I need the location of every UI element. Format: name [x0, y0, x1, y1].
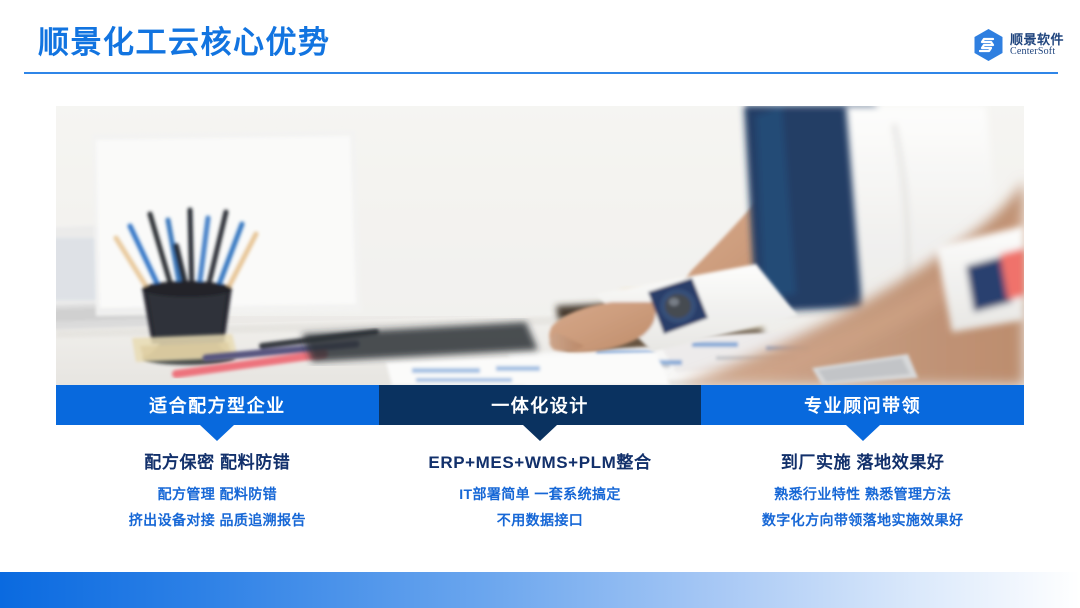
logo-company-cn: 顺景软件: [1010, 33, 1064, 46]
feature-line: IT部署简单 一套系统搞定: [459, 484, 621, 504]
banner-notch-icon: [846, 425, 880, 441]
feature-line: 挤出设备对接 品质追溯报告: [129, 510, 306, 530]
slide-root: 顺景化工云核心优势 顺景软件 CenterSoft: [0, 0, 1080, 608]
banner-label: 一体化设计: [491, 392, 589, 418]
feature-line: 不用数据接口: [497, 510, 583, 530]
bottom-gradient-bar: [0, 572, 1080, 608]
company-logo: 顺景软件 CenterSoft: [973, 28, 1064, 62]
logo-company-en: CenterSoft: [1010, 47, 1064, 57]
banner-strip: 适合配方型企业 一体化设计 专业顾问带领: [56, 385, 1024, 425]
logo-wordmark: 顺景软件 CenterSoft: [1010, 33, 1064, 57]
title-underline-rule: [24, 72, 1058, 74]
feature-headline: ERP+MES+WMS+PLM整合: [428, 452, 651, 474]
feature-headline: 配方保密 配料防错: [144, 452, 290, 474]
banner-label: 专业顾问带领: [804, 392, 921, 418]
feature-headline: 到厂实施 落地效果好: [781, 452, 945, 474]
slide-header: 顺景化工云核心优势 顺景软件 CenterSoft: [0, 0, 1080, 90]
banner-notch-icon: [200, 425, 234, 441]
banner-item-2[interactable]: 专业顾问带领: [701, 385, 1024, 425]
banner-item-0[interactable]: 适合配方型企业: [56, 385, 379, 425]
feature-column-2: 到厂实施 落地效果好 熟悉行业特性 熟悉管理方法 数字化方向带领落地实施效果好: [701, 452, 1024, 552]
hero-photo: [56, 106, 1024, 385]
feature-columns: 配方保密 配料防错 配方管理 配料防错 挤出设备对接 品质追溯报告 ERP+ME…: [56, 452, 1024, 552]
banner-notch-icon: [523, 425, 557, 441]
banner-item-1[interactable]: 一体化设计: [379, 385, 702, 425]
feature-column-0: 配方保密 配料防错 配方管理 配料防错 挤出设备对接 品质追溯报告: [56, 452, 379, 552]
feature-line: 熟悉行业特性 熟悉管理方法: [774, 484, 951, 504]
feature-column-1: ERP+MES+WMS+PLM整合 IT部署简单 一套系统搞定 不用数据接口: [379, 452, 702, 552]
feature-line: 配方管理 配料防错: [158, 484, 278, 504]
banner-label: 适合配方型企业: [149, 392, 286, 418]
page-title: 顺景化工云核心优势: [38, 22, 331, 64]
feature-line: 数字化方向带领落地实施效果好: [762, 510, 964, 530]
hexagon-s-logo-icon: [973, 28, 1004, 62]
